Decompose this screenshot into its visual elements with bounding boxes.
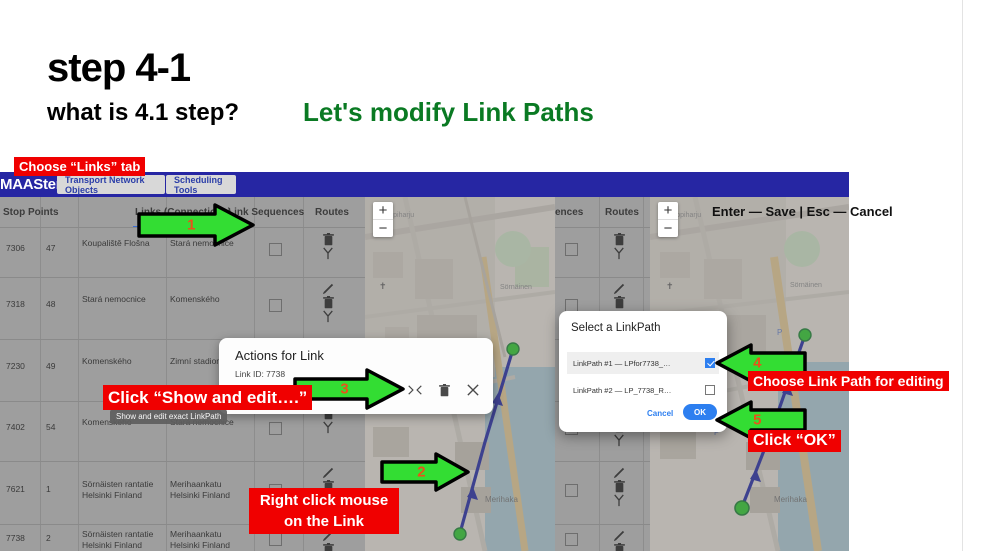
trash-icon[interactable] <box>434 380 454 400</box>
row-actions <box>607 232 631 261</box>
row-checkbox[interactable] <box>565 533 578 546</box>
cell-link-id: 7306 <box>6 243 25 254</box>
pencil-icon[interactable] <box>316 283 340 295</box>
cell-from-stop: Sörnäisten rantatie Helsinki Finland <box>82 529 160 551</box>
row-checkbox[interactable] <box>269 299 282 312</box>
cell-link-id: 7402 <box>6 422 25 433</box>
actions-popup-title: Actions for Link <box>235 348 324 363</box>
trash-icon[interactable] <box>607 233 631 246</box>
step-arrow-5-number: 5 <box>753 412 761 429</box>
page-subtitle-accent: Let's modify Link Paths <box>303 97 594 128</box>
page-title: step 4-1 <box>47 48 190 88</box>
linkpath-option-2-checkbox[interactable] <box>705 385 715 395</box>
callout-click-ok: Click “OK” <box>748 430 841 452</box>
linkpath-option-1-label: LinkPath #1 — LPfor7738_… <box>567 359 705 368</box>
shuffle-icon[interactable] <box>405 380 425 400</box>
row-actions <box>607 282 631 310</box>
branch-icon[interactable] <box>607 494 631 507</box>
callout-right-click-line2: on the Link <box>284 511 364 532</box>
table-row[interactable]: 731848Stará nemocniceKomenského <box>0 277 365 339</box>
nav-tab-transport-network-objects[interactable]: Transport Network Objects <box>57 175 165 194</box>
cell-link-id: 7230 <box>6 361 25 372</box>
cell-from-stop: Sörnäisten rantatie Helsinki Finland <box>82 479 160 501</box>
step-arrow-2: 2 <box>380 452 470 492</box>
cell-link-number: 2 <box>46 533 51 544</box>
right-panel-header-routes: Routes <box>605 197 639 227</box>
zoom-out-button[interactable]: − <box>658 220 678 237</box>
trash-icon[interactable] <box>607 543 631 551</box>
cell-link-id: 7738 <box>6 533 25 544</box>
pencil-icon[interactable] <box>316 467 340 479</box>
slide-edge-divider <box>962 0 963 551</box>
zoom-in-button[interactable]: + <box>658 202 678 219</box>
cell-link-id: 7318 <box>6 299 25 310</box>
actions-popup-tooltip: Show and edit exact LinkPath <box>110 409 227 424</box>
linkpath-option-2[interactable]: LinkPath #2 — LP_7738_R… <box>567 379 719 401</box>
map-save-hint: Enter — Save | Esc — Cancel <box>712 204 893 219</box>
select-linkpath-dialog: Select a LinkPath LinkPath #1 — LPfor773… <box>559 311 727 432</box>
callout-choose-links-tab: Choose “Links” tab <box>14 157 145 176</box>
row-checkbox[interactable] <box>269 243 282 256</box>
branch-icon[interactable] <box>607 434 631 447</box>
map-zoom-control[interactable]: + − <box>658 202 678 237</box>
tab-stop-points[interactable]: Stop Points <box>3 197 59 227</box>
pencil-icon[interactable] <box>607 467 631 479</box>
row-actions <box>316 232 340 261</box>
pencil-icon[interactable] <box>607 283 631 295</box>
nav-tab-scheduling-tools[interactable]: Scheduling Tools <box>166 175 236 194</box>
step-arrow-2-number: 2 <box>417 464 425 481</box>
branch-icon[interactable] <box>607 247 631 260</box>
branch-icon[interactable] <box>316 247 340 260</box>
row-actions <box>316 282 340 324</box>
row-checkbox[interactable] <box>269 533 282 546</box>
callout-right-click-link: Right click mouse on the Link <box>249 488 399 534</box>
trash-icon[interactable] <box>316 233 340 246</box>
row-actions <box>607 466 631 508</box>
page-subtitle: what is 4.1 step? <box>47 99 239 127</box>
cell-link-id: 7621 <box>6 484 25 495</box>
pencil-icon[interactable] <box>607 530 631 542</box>
cell-from-stop: Komenského <box>82 356 160 367</box>
ok-button[interactable]: OK <box>683 404 717 420</box>
actions-popup-link-id: Link ID: 7738 <box>235 369 285 379</box>
cell-to-stop: Komenského <box>170 294 248 305</box>
row-actions <box>607 529 631 551</box>
callout-click-show-and-edit: Click “Show and edit….” <box>103 385 312 410</box>
step-arrow-3-number: 3 <box>340 381 348 398</box>
app-brand: MAASter <box>0 176 61 193</box>
row-checkbox[interactable] <box>565 243 578 256</box>
cell-link-number: 54 <box>46 422 55 433</box>
table-row[interactable] <box>555 524 650 551</box>
callout-right-click-line1: Right click mouse <box>260 490 388 511</box>
cell-from-stop: Stará nemocnice <box>82 294 160 305</box>
right-panel-header-sequences: ences <box>555 197 583 227</box>
step-arrow-1-number: 1 <box>187 217 195 234</box>
branch-icon[interactable] <box>316 421 340 434</box>
row-checkbox[interactable] <box>269 422 282 435</box>
zoom-out-button[interactable]: − <box>373 220 393 237</box>
close-icon[interactable] <box>463 380 483 400</box>
trash-icon[interactable] <box>316 296 340 309</box>
map-zoom-control[interactable]: + − <box>373 202 393 237</box>
trash-icon[interactable] <box>607 296 631 309</box>
linkpath-option-1[interactable]: LinkPath #1 — LPfor7738_… <box>567 352 719 374</box>
cell-link-number: 49 <box>46 361 55 372</box>
table-row[interactable] <box>555 227 650 277</box>
table-row[interactable] <box>555 461 650 524</box>
dialog-title: Select a LinkPath <box>571 322 661 334</box>
step-arrow-1: 1 <box>137 203 255 247</box>
cancel-button[interactable]: Cancel <box>647 409 673 418</box>
trash-icon[interactable] <box>607 480 631 493</box>
cell-to-stop: Merihaankatu Helsinki Finland <box>170 529 248 551</box>
trash-icon[interactable] <box>316 543 340 551</box>
cell-link-number: 48 <box>46 299 55 310</box>
cell-to-stop: Merihaankatu Helsinki Finland <box>170 479 248 501</box>
tab-routes[interactable]: Routes <box>315 197 349 227</box>
cell-link-number: 1 <box>46 484 51 495</box>
row-checkbox[interactable] <box>565 484 578 497</box>
branch-icon[interactable] <box>316 310 340 323</box>
cell-link-number: 47 <box>46 243 55 254</box>
zoom-in-button[interactable]: + <box>373 202 393 219</box>
callout-choose-link-path: Choose Link Path for editing <box>748 371 949 391</box>
step-arrow-4-number: 4 <box>753 355 761 372</box>
linkpath-option-1-checkbox[interactable] <box>705 358 715 368</box>
linkpath-option-2-label: LinkPath #2 — LP_7738_R… <box>567 386 705 395</box>
